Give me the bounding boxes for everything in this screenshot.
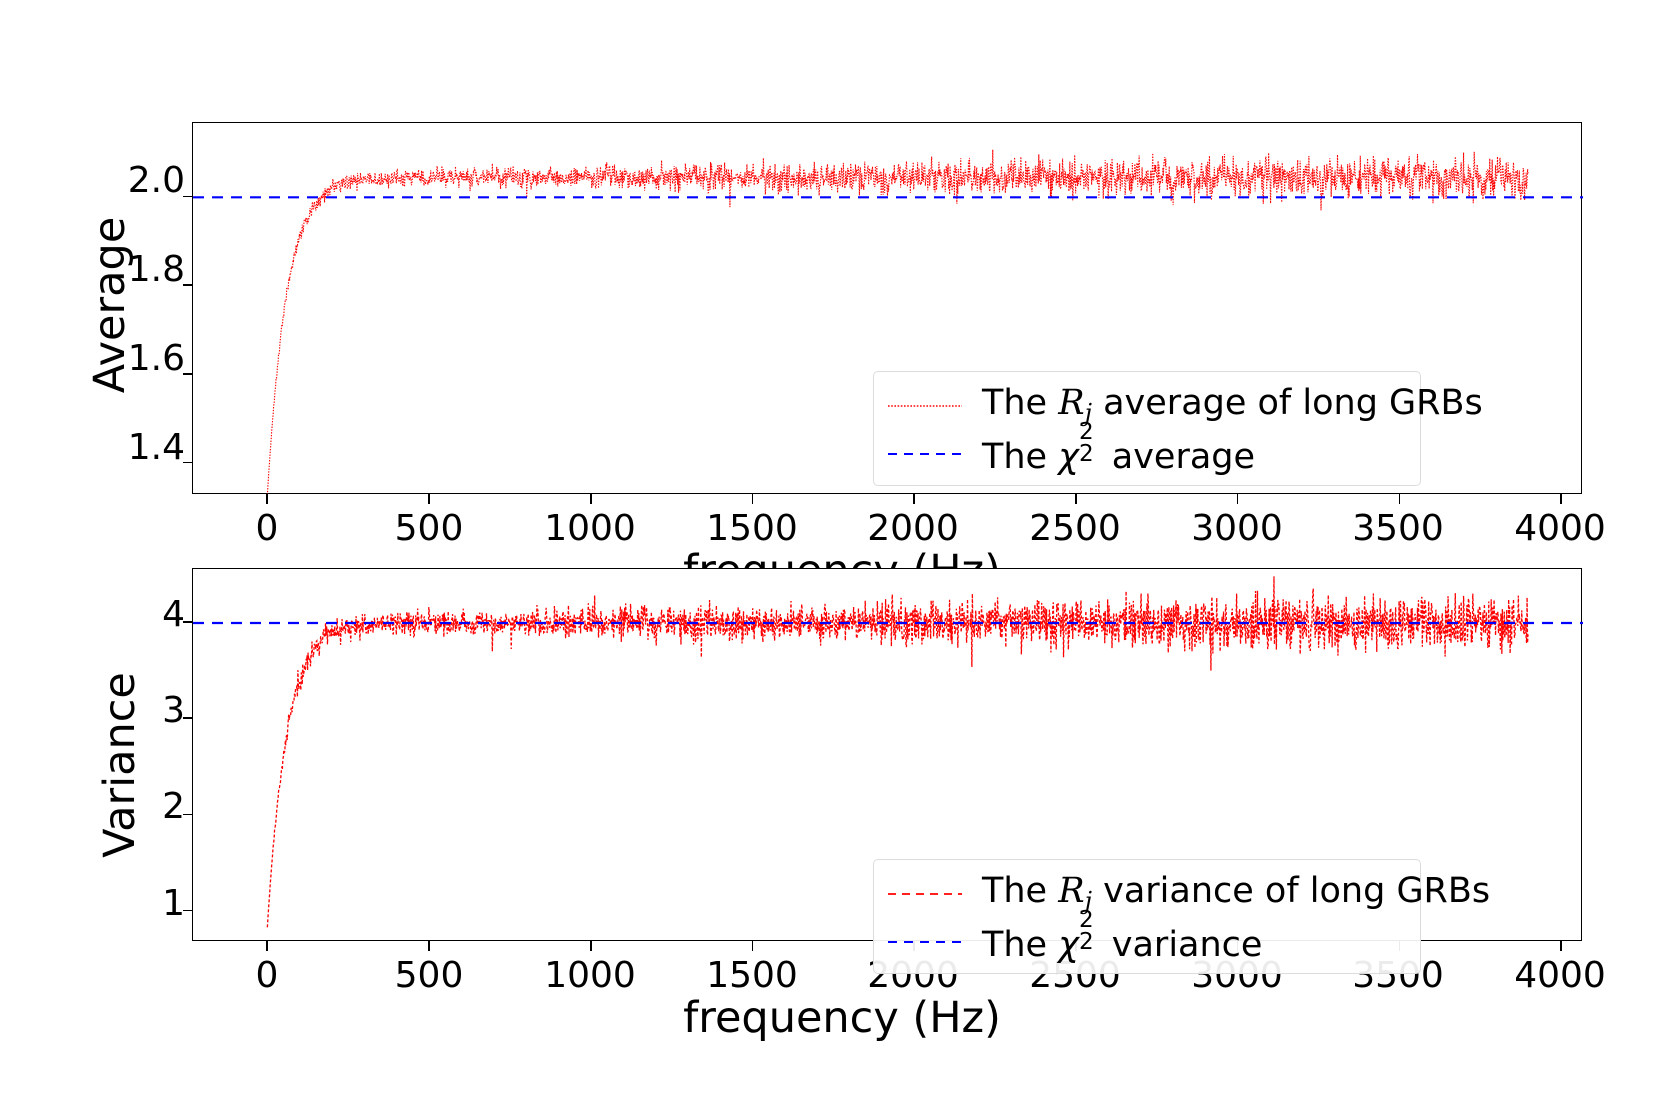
legend-row-variance-reference[interactable]: The χ22 variance bbox=[886, 918, 1406, 966]
average-ytickmark-1.4 bbox=[183, 462, 193, 464]
variance-panel: Variance 4 3 2 1 0 bbox=[0, 555, 1661, 1107]
average-xtickmark-3000 bbox=[1237, 494, 1239, 504]
variance-ytickmark-1 bbox=[183, 910, 193, 912]
average-xtickmark-2000 bbox=[913, 494, 915, 504]
legend-label-average-data: The Rj average of long GRBs bbox=[982, 386, 1483, 426]
legend-label-variance-reference: The χ22 variance bbox=[982, 921, 1262, 963]
figure-canvas: Average 2.0 1.8 1.6 1.4 bbox=[0, 0, 1661, 1107]
variance-xtick-1500: 1500 bbox=[692, 955, 812, 996]
average-xtick-1000: 1000 bbox=[530, 508, 650, 549]
legend-label-average-reference: The χ22 average bbox=[982, 433, 1255, 475]
average-xtickmark-1000 bbox=[590, 494, 592, 504]
variance-ytick-1: 1 bbox=[110, 883, 185, 924]
legend-row-variance-data[interactable]: The Rj variance of long GRBs bbox=[886, 870, 1406, 918]
variance-xtickmark-500 bbox=[428, 941, 430, 951]
average-ytick-1.4: 1.4 bbox=[110, 427, 185, 468]
average-xtickmark-3500 bbox=[1399, 494, 1401, 504]
variance-xtick-4000: 4000 bbox=[1500, 955, 1620, 996]
variance-ytickmark-2 bbox=[183, 814, 193, 816]
variance-xtick-1000: 1000 bbox=[530, 955, 650, 996]
average-ytickmark-2.0 bbox=[183, 196, 193, 198]
average-legend[interactable]: The Rj average of long GRBs The χ22 aver… bbox=[873, 371, 1421, 486]
average-xtick-3000: 3000 bbox=[1177, 508, 1297, 549]
average-ytick-2.0: 2.0 bbox=[110, 160, 185, 201]
average-xtick-500: 500 bbox=[369, 508, 489, 549]
variance-xtickmark-0 bbox=[266, 941, 268, 951]
average-y-axis-label: Average bbox=[85, 175, 135, 435]
average-xtick-3500: 3500 bbox=[1338, 508, 1458, 549]
average-xtickmark-1500 bbox=[752, 494, 754, 504]
legend-label-variance-data: The Rj variance of long GRBs bbox=[982, 874, 1490, 914]
legend-row-average-reference[interactable]: The χ22 average bbox=[886, 430, 1406, 478]
variance-xtick-0: 0 bbox=[207, 955, 327, 996]
variance-xtickmark-4000 bbox=[1560, 941, 1562, 951]
average-ytick-1.6: 1.6 bbox=[110, 338, 185, 379]
variance-ytick-4: 4 bbox=[110, 594, 185, 635]
variance-ytickmark-4 bbox=[183, 621, 193, 623]
legend-row-average-data[interactable]: The Rj average of long GRBs bbox=[886, 382, 1406, 430]
variance-ytickmark-3 bbox=[183, 717, 193, 719]
variance-xtickmark-1500 bbox=[752, 941, 754, 951]
average-xtick-2000: 2000 bbox=[853, 508, 973, 549]
variance-ytick-2: 2 bbox=[110, 786, 185, 827]
variance-legend[interactable]: The Rj variance of long GRBs The χ22 var… bbox=[873, 859, 1421, 974]
average-xtickmark-2500 bbox=[1075, 494, 1077, 504]
average-xtick-1500: 1500 bbox=[692, 508, 812, 549]
average-xtickmark-4000 bbox=[1560, 494, 1562, 504]
variance-xtickmark-1000 bbox=[590, 941, 592, 951]
average-ytickmark-1.8 bbox=[183, 284, 193, 286]
average-panel: Average 2.0 1.8 1.6 1.4 bbox=[0, 0, 1661, 555]
variance-xtick-500: 500 bbox=[369, 955, 489, 996]
variance-ytick-3: 3 bbox=[110, 690, 185, 731]
average-xtick-4000: 4000 bbox=[1500, 508, 1620, 549]
average-xtick-2500: 2500 bbox=[1015, 508, 1135, 549]
average-xtickmark-500 bbox=[428, 494, 430, 504]
variance-x-axis-label: frequency (Hz) bbox=[592, 993, 1092, 1043]
variance-y-axis-label: Variance bbox=[95, 620, 145, 910]
average-ytick-1.8: 1.8 bbox=[110, 249, 185, 290]
average-ytickmark-1.6 bbox=[183, 373, 193, 375]
average-xtickmark-0 bbox=[266, 494, 268, 504]
average-xtick-0: 0 bbox=[207, 508, 327, 549]
